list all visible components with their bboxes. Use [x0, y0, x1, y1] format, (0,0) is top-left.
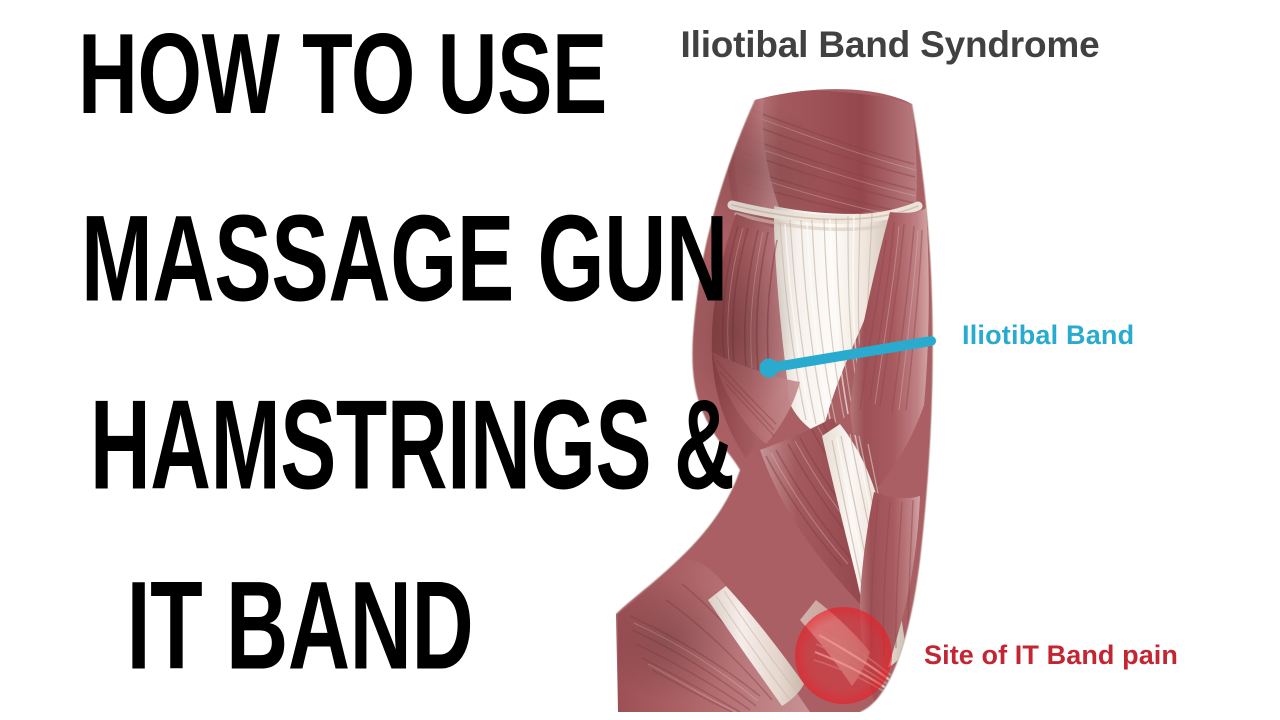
- photo-bottom-edge: [560, 712, 1280, 720]
- anatomy-illustration-panel: Iliotibal Band Syndrome Iliotibal Band S…: [560, 0, 1280, 720]
- title-line-4: IT BAND: [81, 563, 519, 688]
- iliotibial-band-pointer-line: [755, 325, 955, 385]
- thumbnail-canvas: Iliotibal Band Syndrome Iliotibal Band S…: [0, 0, 1280, 720]
- title-line-1: HOW TO USE: [78, 17, 522, 131]
- title-line-2: MASSAGE GUN: [81, 198, 519, 321]
- thumbnail-title-block: HOW TO USE MASSAGE GUN HAMSTRINGS & IT B…: [0, 0, 600, 720]
- anatomy-heading: Iliotibal Band Syndrome: [560, 24, 1220, 66]
- callout-label-iliotibial-band: Iliotibal Band: [962, 320, 1134, 351]
- title-line-3: HAMSTRINGS &: [90, 381, 510, 508]
- callout-label-it-band-pain: Site of IT Band pain: [924, 640, 1178, 671]
